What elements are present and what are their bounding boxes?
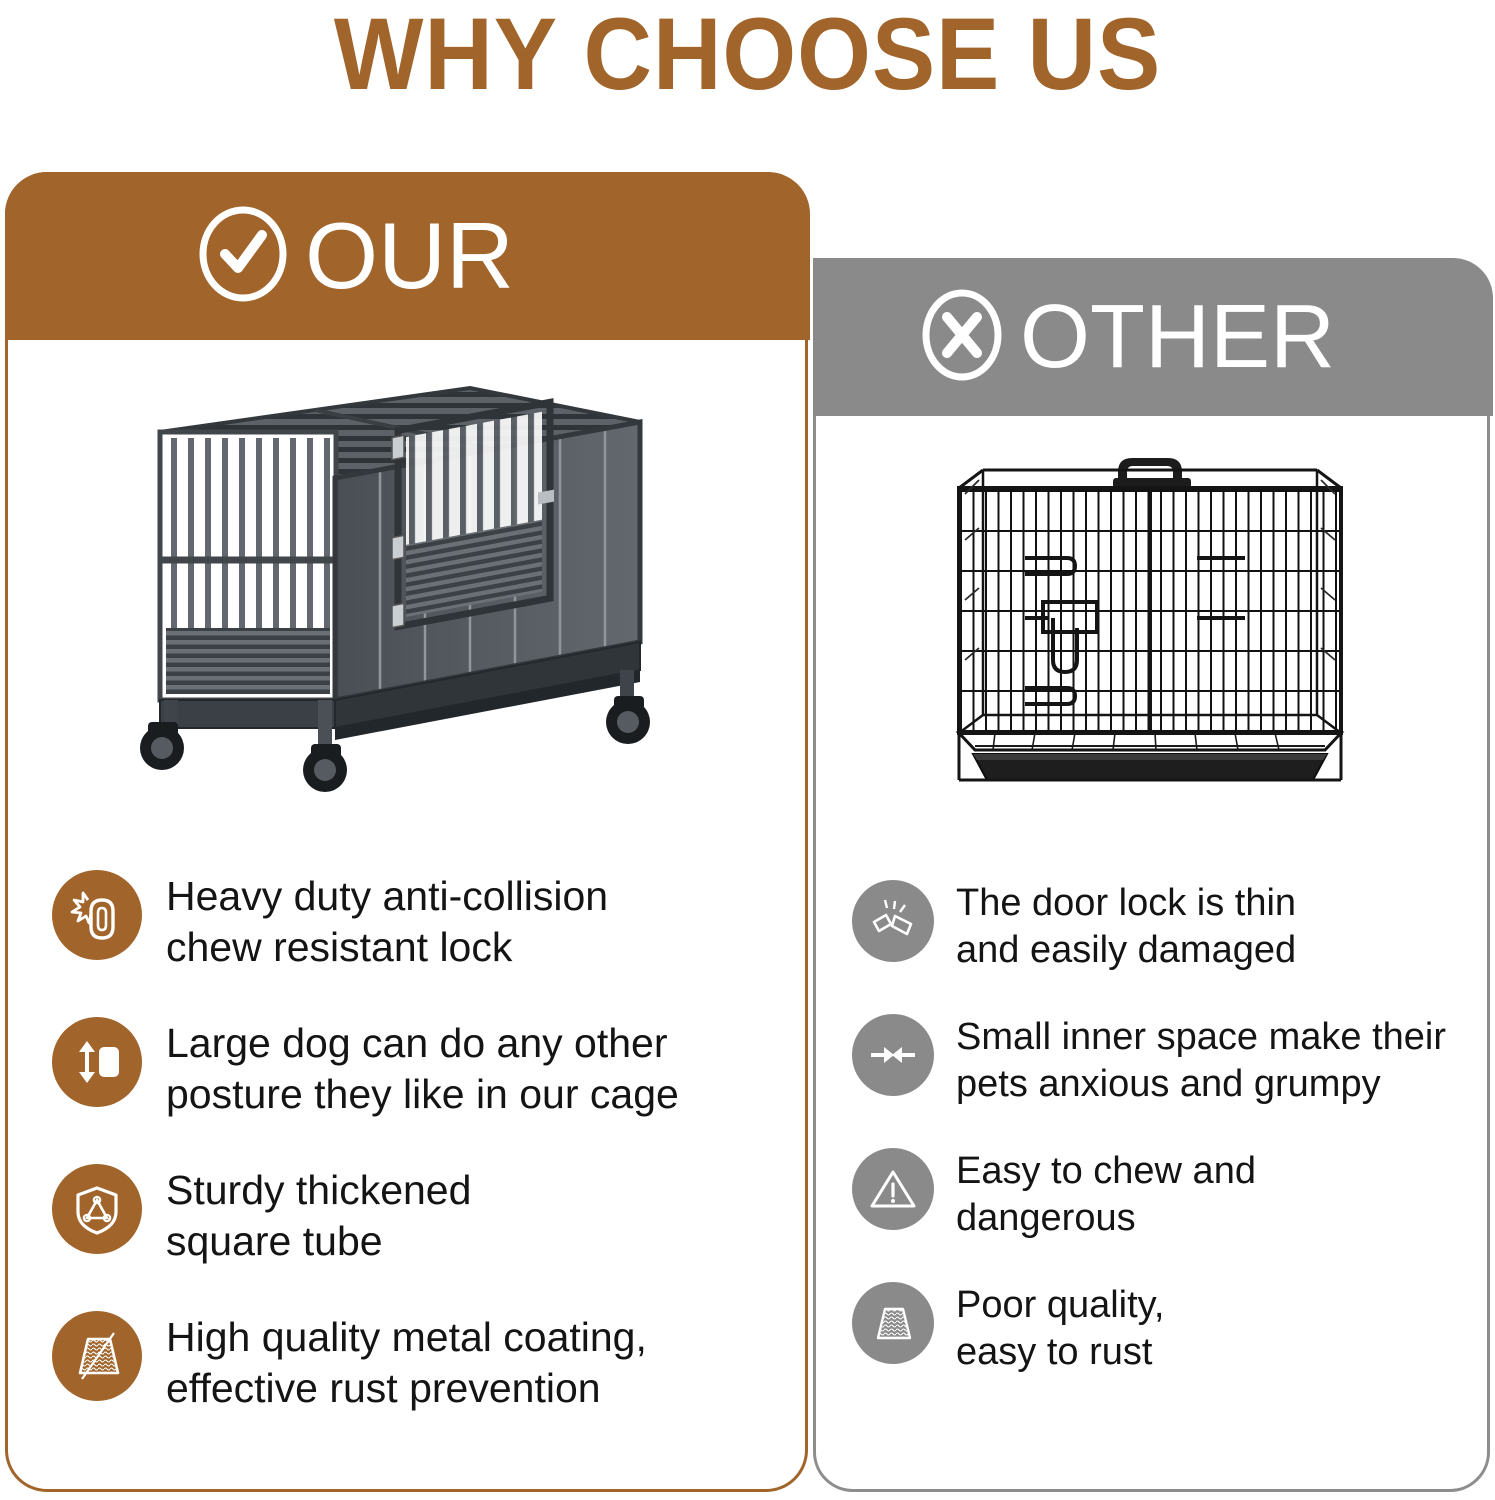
other-tab-header: OTHER [813,258,1493,416]
feature-label: The door lock is thin and easily damaged [956,878,1296,974]
broken-lock-icon [852,880,934,962]
feature-label: Poor quality, easy to rust [956,1280,1164,1376]
feature-item: Large dog can do any other posture they … [52,1015,772,1120]
other-tab-label: OTHER [1020,289,1335,385]
our-tab-label: OUR [305,208,514,304]
our-tab-header: OUR [5,172,810,340]
x-circle-icon [918,287,1006,388]
other-feature-list: The door lock is thin and easily damaged… [852,878,1472,1376]
shield-frame-icon [52,1164,142,1254]
feature-item: The door lock is thin and easily damaged [852,878,1472,974]
feature-item: Heavy duty anti-collision chew resistant… [52,868,772,973]
feature-label: Large dog can do any other posture they … [166,1015,679,1120]
our-feature-list: Heavy duty anti-collision chew resistant… [52,868,772,1414]
impact-padlock-icon [52,870,142,960]
warning-triangle-icon [852,1148,934,1230]
feature-label: Sturdy thickened square tube [166,1162,471,1267]
compress-arrows-icon [852,1014,934,1096]
feature-label: Heavy duty anti-collision chew resistant… [166,868,608,973]
feature-label: High quality metal coating, effective ru… [166,1309,647,1414]
rusty-coating-icon [852,1282,934,1364]
vertical-space-arrow-icon [52,1017,142,1107]
our-product-image [120,370,680,830]
feature-label: Small inner space make their pets anxiou… [956,1012,1446,1108]
other-product-image [935,450,1365,800]
check-circle-icon [195,204,291,309]
page-title: WHY CHOOSE US [52,2,1442,106]
feature-label: Easy to chew and dangerous [956,1146,1256,1242]
metal-coating-icon [52,1311,142,1401]
feature-item: Poor quality, easy to rust [852,1280,1472,1376]
feature-item: Easy to chew and dangerous [852,1146,1472,1242]
feature-item: Small inner space make their pets anxiou… [852,1012,1472,1108]
feature-item: Sturdy thickened square tube [52,1162,772,1267]
feature-item: High quality metal coating, effective ru… [52,1309,772,1414]
